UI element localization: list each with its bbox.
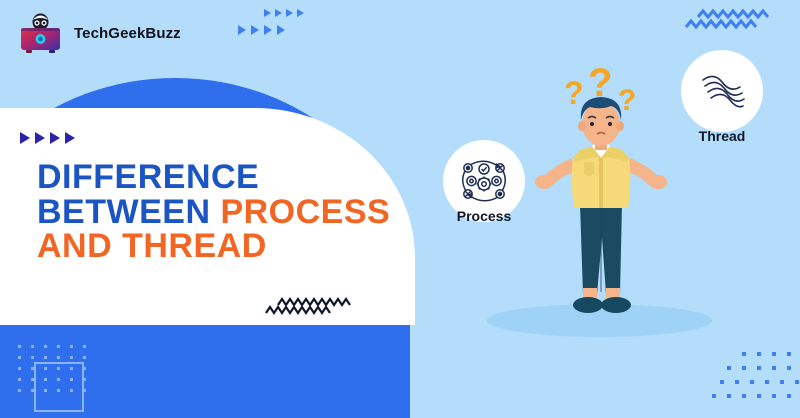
chevron-icon [275,9,282,17]
chevron-icon [251,25,259,35]
chevron-icon [20,132,30,144]
zigzag-top-right [684,8,780,34]
title-line-2: BETWEEN PROCESS [37,195,390,230]
chevron-icon [264,9,271,17]
process-label: Process [443,208,525,224]
brand-name: TechGeekBuzz [74,25,181,42]
poster-canvas: TechGeekBuzz DIFFERENCE BETWEEN PROCESS … [0,0,800,400]
title-word-and-thread: AND THREAD [37,227,267,265]
title-line-3: AND THREAD [37,229,390,264]
thread-waves-icon [694,63,750,119]
page-title: DIFFERENCE BETWEEN PROCESS AND THREAD [37,160,390,264]
square-outline-bottom-left [34,362,84,412]
dot-triangle-bottom-right [712,352,800,400]
chevron-icon [264,25,272,35]
chevron-cluster-top-upper [264,9,304,17]
chevron-icon [50,132,60,144]
gears-process-icon [456,153,512,209]
title-word-between: BETWEEN [37,193,220,231]
chevron-icon [35,132,45,144]
title-word-process: PROCESS [220,193,390,231]
techgeekbuzz-logo-icon [18,12,63,54]
svg-text:?: ? [564,75,584,111]
thread-label: Thread [681,128,763,144]
chevron-cluster-top-small [238,25,285,35]
zigzag-panel-bottom [262,296,366,318]
chevron-cluster-title [20,132,75,144]
thread-icon-circle[interactable] [681,50,763,132]
brand-logo-group[interactable]: TechGeekBuzz [18,12,181,54]
chevron-icon [286,9,293,17]
chevron-icon [238,25,246,35]
chevron-icon [297,9,304,17]
chevron-icon [277,25,285,35]
chevron-icon [65,132,75,144]
title-line-1: DIFFERENCE [37,160,390,195]
confused-person-illustration: ? ? ? [528,62,674,332]
title-word-difference: DIFFERENCE [37,158,259,196]
